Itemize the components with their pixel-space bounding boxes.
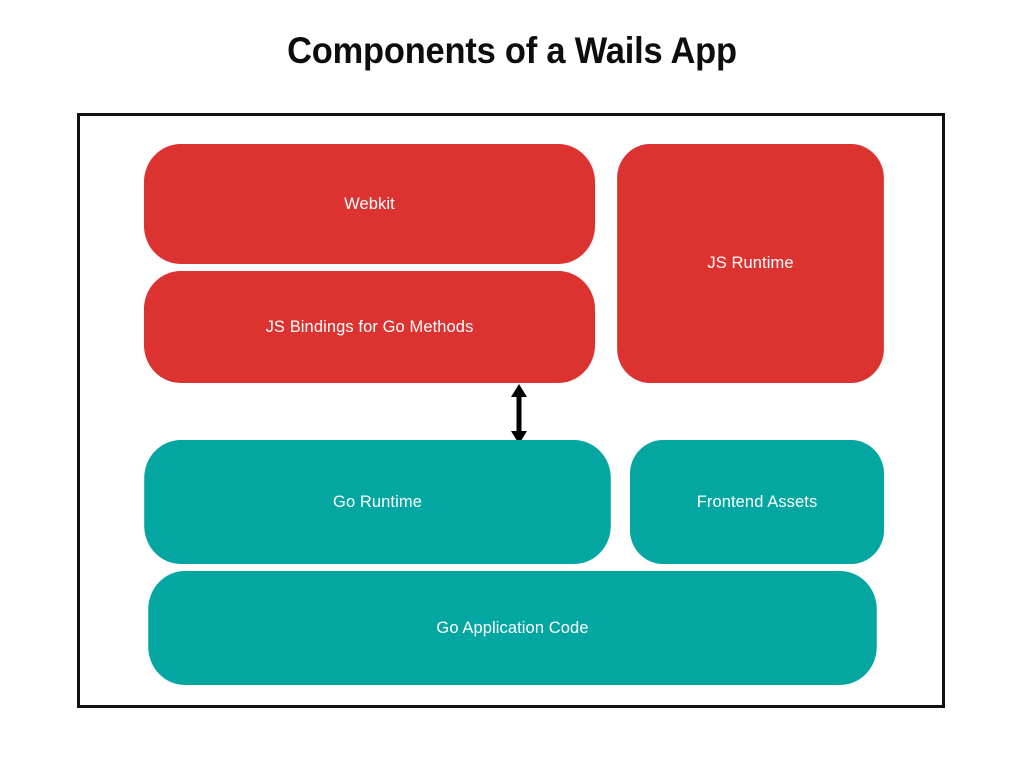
page-title: Components of a Wails App	[36, 30, 988, 72]
component-label-frontend-assets: Frontend Assets	[697, 492, 818, 512]
bidirectional-arrow-icon	[508, 384, 530, 444]
component-label-go-runtime: Go Runtime	[333, 492, 422, 512]
slide-canvas: Components of a Wails App Webkit JS Bind…	[0, 0, 1024, 768]
component-box-go-runtime[interactable]: Go Runtime	[144, 440, 611, 564]
diagram-frame: Webkit JS Bindings for Go Methods JS Run…	[77, 113, 945, 708]
component-label-js-runtime: JS Runtime	[707, 253, 793, 273]
component-box-go-application-code[interactable]: Go Application Code	[148, 571, 876, 685]
component-box-webkit[interactable]: Webkit	[144, 144, 595, 264]
component-box-js-runtime[interactable]: JS Runtime	[617, 144, 884, 383]
component-label-js-bindings: JS Bindings for Go Methods	[266, 317, 474, 337]
component-box-js-bindings[interactable]: JS Bindings for Go Methods	[144, 271, 595, 383]
bidirectional-arrow-svg	[508, 384, 530, 444]
component-label-webkit: Webkit	[344, 194, 395, 214]
component-box-frontend-assets[interactable]: Frontend Assets	[630, 440, 884, 564]
component-label-go-application-code: Go Application Code	[436, 618, 588, 638]
